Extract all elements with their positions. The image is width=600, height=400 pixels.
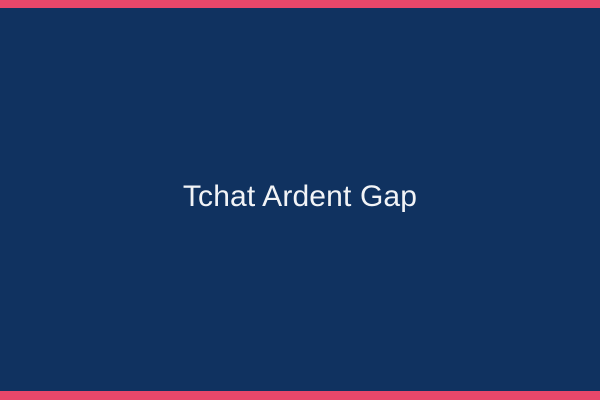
top-accent-bar [0, 0, 600, 8]
placeholder-card: Tchat Ardent Gap [0, 0, 600, 400]
placeholder-body: Tchat Ardent Gap [0, 8, 600, 391]
bottom-accent-bar [0, 391, 600, 400]
page-title: Tchat Ardent Gap [167, 179, 433, 215]
